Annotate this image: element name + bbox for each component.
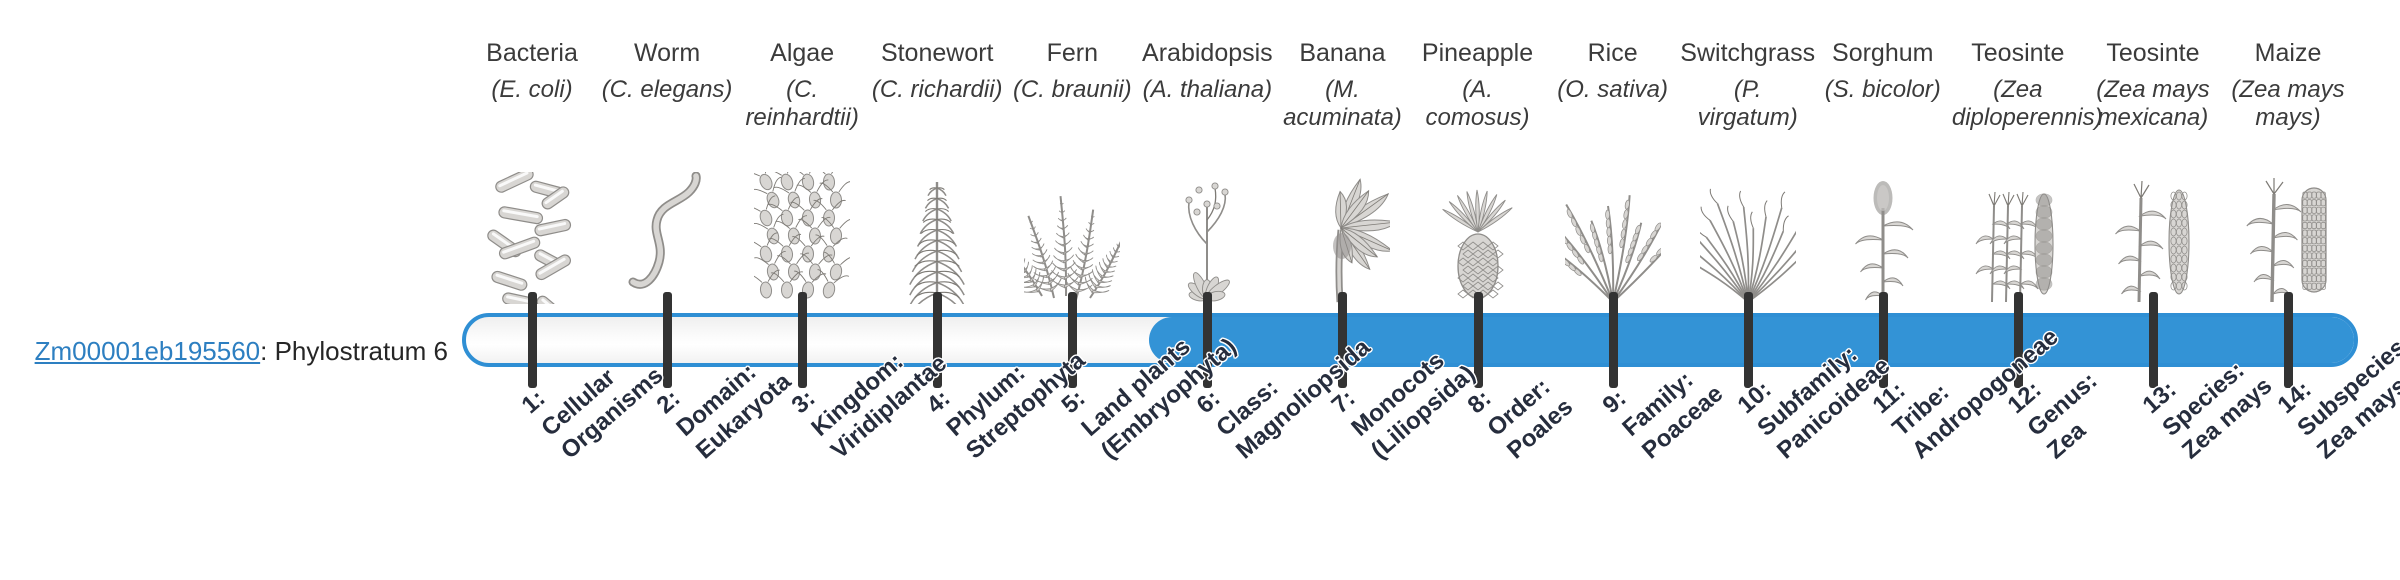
species-scientific-name: (C. richardii) — [869, 76, 1005, 104]
species-scientific-name: (O. sativa) — [1545, 76, 1681, 104]
species-column-10: Switchgrass(P. virgatum) — [1680, 0, 1816, 320]
fern-icon — [1004, 172, 1140, 304]
species-header: Worm(C. elegans) — [599, 38, 735, 104]
species-common-name: Algae — [734, 38, 870, 68]
species-header: Fern(C. braunii) — [1004, 38, 1140, 104]
species-scientific-name: (C. reinhardtii) — [734, 76, 870, 132]
teosinte-diplo-icon — [1950, 172, 2086, 304]
banana-icon — [1274, 172, 1410, 304]
tick-mark-11 — [1879, 292, 1888, 388]
species-column-9: Rice(O. sativa) — [1545, 0, 1681, 320]
stonewort-icon — [869, 172, 1005, 304]
species-header: Teosinte(Zea mays mexicana) — [2085, 38, 2221, 132]
maize-icon — [2220, 172, 2356, 304]
gene-id-link[interactable]: Zm00001eb195560 — [35, 336, 261, 366]
species-common-name: Stonewort — [869, 38, 1005, 68]
species-column-4: Stonewort(C. richardii) — [869, 0, 1005, 320]
gene-label-separator: : — [260, 336, 274, 366]
species-scientific-name: (C. elegans) — [599, 76, 735, 104]
species-common-name: Maize — [2220, 38, 2356, 68]
species-common-name: Banana — [1274, 38, 1410, 68]
species-column-2: Worm(C. elegans) — [599, 0, 735, 320]
species-header: Switchgrass(P. virgatum) — [1680, 38, 1816, 132]
phylostratum-figure: Zm00001eb195560: Phylostratum 6 Bacteria… — [0, 0, 2400, 580]
species-common-name: Pineapple — [1410, 38, 1546, 68]
arabidopsis-icon — [1139, 172, 1275, 304]
teosinte-mexicana-icon — [2085, 172, 2221, 304]
species-common-name: Fern — [1004, 38, 1140, 68]
species-column-1: Bacteria(E. coli) — [464, 0, 600, 320]
tick-mark-5 — [1068, 292, 1077, 388]
gene-phylostratum-label: Zm00001eb195560: Phylostratum 6 — [0, 336, 460, 367]
species-header: Arabidopsis(A. thaliana) — [1139, 38, 1275, 104]
species-header: Teosinte(Zea diploperennis) — [1950, 38, 2086, 132]
species-scientific-name: (P. virgatum) — [1680, 76, 1816, 132]
species-column-3: Algae(C. reinhardtii) — [734, 0, 870, 320]
tick-mark-2 — [663, 292, 672, 388]
species-header: Maize(Zea mays mays) — [2220, 38, 2356, 132]
tick-mark-14 — [2284, 292, 2293, 388]
progress-fill — [1149, 317, 2358, 363]
species-scientific-name: (E. coli) — [464, 76, 600, 104]
species-header: Sorghum(S. bicolor) — [1815, 38, 1951, 104]
species-column-11: Sorghum(S. bicolor) — [1815, 0, 1951, 320]
progress-track[interactable] — [462, 313, 2358, 367]
switchgrass-icon — [1680, 172, 1816, 304]
phylostratum-value-text: Phylostratum 6 — [275, 336, 448, 366]
species-scientific-name: (A. thaliana) — [1139, 76, 1275, 104]
species-common-name: Rice — [1545, 38, 1681, 68]
species-column-12: Teosinte(Zea diploperennis) — [1950, 0, 2086, 320]
species-common-name: Sorghum — [1815, 38, 1951, 68]
sorghum-icon — [1815, 172, 1951, 304]
species-scientific-name: (Zea mays mexicana) — [2085, 76, 2221, 132]
species-scientific-name: (A. comosus) — [1410, 76, 1546, 132]
tick-mark-12 — [2014, 292, 2023, 388]
species-header: Algae(C. reinhardtii) — [734, 38, 870, 132]
species-common-name: Switchgrass — [1680, 38, 1816, 68]
species-header: Banana(M. acuminata) — [1274, 38, 1410, 132]
tick-mark-6 — [1203, 292, 1212, 388]
bacteria-icon — [464, 172, 600, 304]
phylostratum-progress-bar — [462, 313, 2358, 367]
tick-mark-4 — [933, 292, 942, 388]
species-column-5: Fern(C. braunii) — [1004, 0, 1140, 320]
pineapple-icon — [1410, 172, 1546, 304]
species-header: Rice(O. sativa) — [1545, 38, 1681, 104]
species-columns: Bacteria(E. coli)Worm(C. elegans)Algae(C… — [462, 0, 2362, 580]
species-column-13: Teosinte(Zea mays mexicana) — [2085, 0, 2221, 320]
species-column-7: Banana(M. acuminata) — [1274, 0, 1410, 320]
species-scientific-name: (Zea diploperennis) — [1950, 76, 2086, 132]
worm-icon — [599, 172, 735, 304]
species-header: Pineapple(A. comosus) — [1410, 38, 1546, 132]
algae-icon — [734, 172, 870, 304]
rice-icon — [1545, 172, 1681, 304]
species-common-name: Bacteria — [464, 38, 600, 68]
tick-mark-3 — [798, 292, 807, 388]
species-header: Bacteria(E. coli) — [464, 38, 600, 104]
tick-mark-9 — [1609, 292, 1618, 388]
tick-mark-13 — [2149, 292, 2158, 388]
species-header: Stonewort(C. richardii) — [869, 38, 1005, 104]
species-column-6: Arabidopsis(A. thaliana) — [1139, 0, 1275, 320]
tick-mark-7 — [1338, 292, 1347, 388]
species-common-name: Teosinte — [2085, 38, 2221, 68]
species-scientific-name: (C. braunii) — [1004, 76, 1140, 104]
tick-mark-8 — [1474, 292, 1483, 388]
species-scientific-name: (S. bicolor) — [1815, 76, 1951, 104]
species-column-14: Maize(Zea mays mays) — [2220, 0, 2356, 320]
species-column-8: Pineapple(A. comosus) — [1410, 0, 1546, 320]
species-common-name: Teosinte — [1950, 38, 2086, 68]
species-common-name: Worm — [599, 38, 735, 68]
tick-mark-1 — [528, 292, 537, 388]
species-scientific-name: (M. acuminata) — [1274, 76, 1410, 132]
tick-mark-10 — [1744, 292, 1753, 388]
species-scientific-name: (Zea mays mays) — [2220, 76, 2356, 132]
species-common-name: Arabidopsis — [1139, 38, 1275, 68]
